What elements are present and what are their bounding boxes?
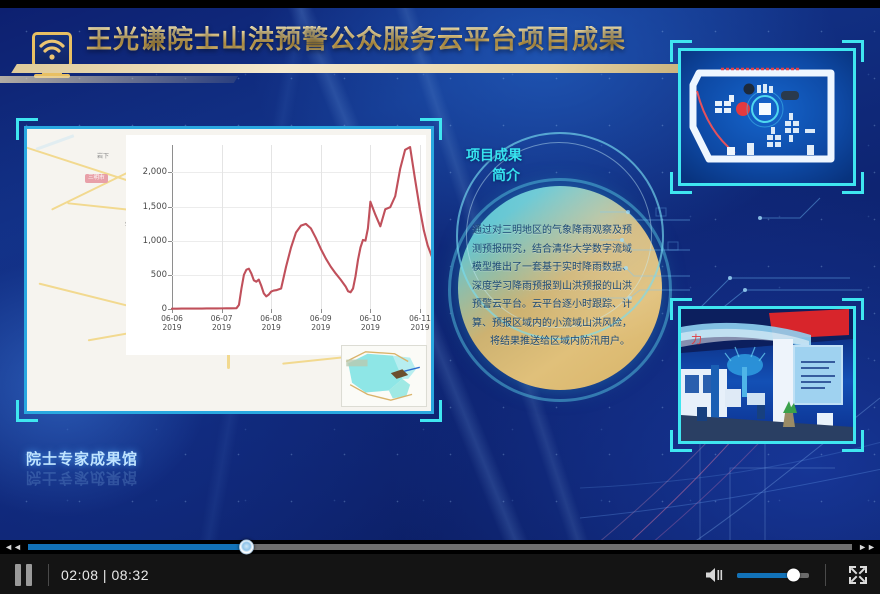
forward-icon[interactable]: ►► <box>854 542 880 552</box>
exhibition-floorplan-panel[interactable] <box>678 48 856 186</box>
chart-x-tickmark <box>271 309 272 313</box>
badge-body-line: 深度学习降雨预报到山洪预报的山洪 <box>472 278 648 297</box>
watermark-reflection: 院士专家成果馆 <box>26 468 138 489</box>
chart-x-tickmark <box>370 309 371 313</box>
volume-slider-handle[interactable] <box>787 569 800 582</box>
controls-right-group <box>697 556 880 594</box>
chart-y-tick-label: 1,000 <box>143 236 167 246</box>
chart-x-tick-label: 06-072019 <box>211 315 233 332</box>
badge-body-line: 预警云平台。云平台逐小时跟踪、计 <box>472 296 648 315</box>
badge-title-line2: 简介 <box>492 166 616 186</box>
chart-x-tick-label: 06-112019 <box>409 315 431 332</box>
chart-x-tick-label: 06-102019 <box>359 315 381 332</box>
header: 王光谦院士山洪预警公众服务云平台项目成果 <box>30 26 626 104</box>
chart-gridline-v <box>420 145 421 309</box>
video-stage[interactable]: 王光谦院士山洪预警公众服务云平台项目成果 <box>0 8 880 548</box>
badge-body-line: 算、预报区域内的小流域山洪风险， <box>472 315 648 334</box>
seek-bar-handle[interactable] <box>239 540 254 555</box>
volume-slider[interactable] <box>737 573 809 578</box>
pause-icon <box>15 564 21 586</box>
badge-title-line1: 项目成果 <box>466 148 522 164</box>
chart-series-line <box>172 145 420 309</box>
exhibition-hall-image: 力 <box>681 309 853 441</box>
map-road-label: 岩下 <box>97 151 109 160</box>
controls-divider <box>825 564 826 586</box>
chart-x-tick-label: 06-062019 <box>161 315 183 332</box>
fullscreen-icon <box>848 565 868 585</box>
chart-x-tickmark <box>222 309 223 313</box>
map-place-tag: 三明市 <box>85 174 108 183</box>
controls-divider <box>48 564 49 586</box>
chart-panel[interactable]: 岩下 S2 三明市 G1517 S306 G25 05001,0001,5002… <box>24 126 434 414</box>
exhibition-floorplan-image <box>681 51 853 183</box>
exhibition-hall-photo-panel[interactable]: 力 <box>678 306 856 444</box>
svg-text:力: 力 <box>691 333 702 346</box>
time-display: 02:08 | 08:32 <box>61 567 149 583</box>
badge-body-line: 通过对三明地区的气象降雨观察及预 <box>472 222 648 241</box>
player-controls: ◄◄ ►► 02:08 | 08:32 <box>0 548 880 594</box>
chart-y-tick-label: 2,000 <box>143 167 167 177</box>
badge-body-text: 通过对三明地区的气象降雨观察及预 测预报研究，结合清华大学数字流域 模型推出了一… <box>472 222 648 352</box>
pause-button[interactable] <box>0 556 46 594</box>
chart-y-tick-label: 0 <box>162 304 167 314</box>
title-underline-bar-secondary <box>0 76 238 83</box>
badge-body-line: 模型推出了一套基于实时降雨数据、 <box>472 259 648 278</box>
chart-x-tickmark <box>420 309 421 313</box>
video-player: 王光谦院士山洪预警公众服务云平台项目成果 <box>0 0 880 594</box>
chart-y-tick-label: 500 <box>151 270 167 280</box>
chart-x-tickmark <box>321 309 322 313</box>
volume-icon <box>704 566 724 584</box>
seek-bar-fill <box>28 544 246 550</box>
project-summary-badge: 项目成果 简介 通过对三明地区的气象降雨观察及预 测预报研究，结合清华大学数字流… <box>452 126 676 414</box>
chart-x-tick-label: 06-092019 <box>310 315 332 332</box>
pause-icon <box>26 564 32 586</box>
progress-row: ◄◄ ►► <box>0 540 880 554</box>
volume-button[interactable] <box>697 556 731 594</box>
badge-body-line: 将结果推送给区域内防汛用户。 <box>472 333 648 352</box>
watermark-text: 院士专家成果馆 <box>26 448 138 469</box>
seek-bar[interactable] <box>28 544 852 550</box>
rewind-icon[interactable]: ◄◄ <box>0 542 26 552</box>
volume-slider-fill <box>737 573 793 578</box>
fullscreen-button[interactable] <box>836 556 880 594</box>
inset-minimap[interactable] <box>341 345 427 407</box>
title-underline-bar <box>11 64 689 73</box>
chart-x-tick-label: 06-082019 <box>260 315 282 332</box>
controls-left-group: 02:08 | 08:32 <box>0 556 149 594</box>
page-title: 王光谦院士山洪预警公众服务云平台项目成果 <box>86 26 626 55</box>
flood-flow-chart[interactable]: 05001,0001,5002,00006-06201906-07201906-… <box>126 135 426 355</box>
chart-y-tick-label: 1,500 <box>143 202 167 212</box>
badge-body-line: 测预报研究，结合清华大学数字流域 <box>472 241 648 260</box>
badge-title: 项目成果 简介 <box>466 146 616 187</box>
